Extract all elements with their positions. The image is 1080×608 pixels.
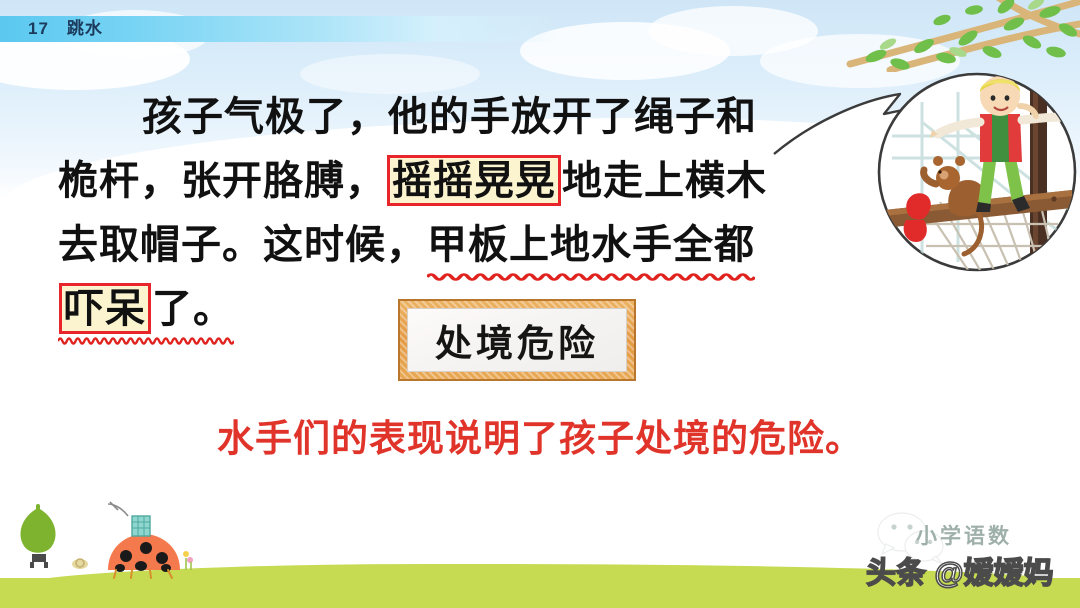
passage-line-3: 去取帽子。这时候， 甲板上地水手全都 [58,213,848,277]
slide-canvas: 孩子气极了，他的手放开了绳子和 桅杆，张开胳膊，摇摇晃晃地走上横木 去取帽子。这… [0,0,1080,608]
ladybug-and-tree-icon [10,498,270,584]
watermark-handle: 头条 @嫒嫒妈 [866,548,1054,592]
passage-line-1-text: 孩子气极了，他的手放开了绳子和 [142,94,757,139]
framed-phrase-inner: 处境危险 [407,308,627,372]
framed-phrase-box: 处境危险 [398,299,636,381]
highlight-xiadai: 吓呆 [59,283,151,334]
watermark-logo-text: 小学语数 [916,520,1012,550]
lesson-number: 17 [28,19,49,38]
passage-line-2-part-a: 桅杆，张开胳膊， [58,158,386,203]
lesson-title-text: 跳水 [67,19,103,38]
passage-line-2-part-b: 地走上横木 [562,158,767,203]
conclusion-sentence: 水手们的表现说明了孩子处境的危险。 [0,408,1080,462]
wavy-underline-group-2: 吓呆了。 [58,277,234,341]
passage-line-2: 桅杆，张开胳膊，摇摇晃晃地走上横木 [58,149,848,213]
wavy-underline-icon [58,335,234,345]
lesson-title: 17跳水 [28,16,103,42]
highlight-yaoyaohuanghuang: 摇摇晃晃 [387,155,561,206]
watermark: 小学语数 头条 @嫒嫒妈 [858,508,1080,600]
passage-line-4-rest: 了。 [152,286,234,331]
bottom-decoration [10,498,270,584]
passage-line-1: 孩子气极了，他的手放开了绳子和 [58,85,848,149]
passage-line-3-underlined-text: 甲板上地水手全都 [427,222,755,267]
framed-phrase-text: 处境危险 [435,313,599,367]
wavy-underline-group-1: 甲板上地水手全都 [427,213,755,277]
passage-line-3-part-a: 去取帽子。这时候， [58,222,427,267]
